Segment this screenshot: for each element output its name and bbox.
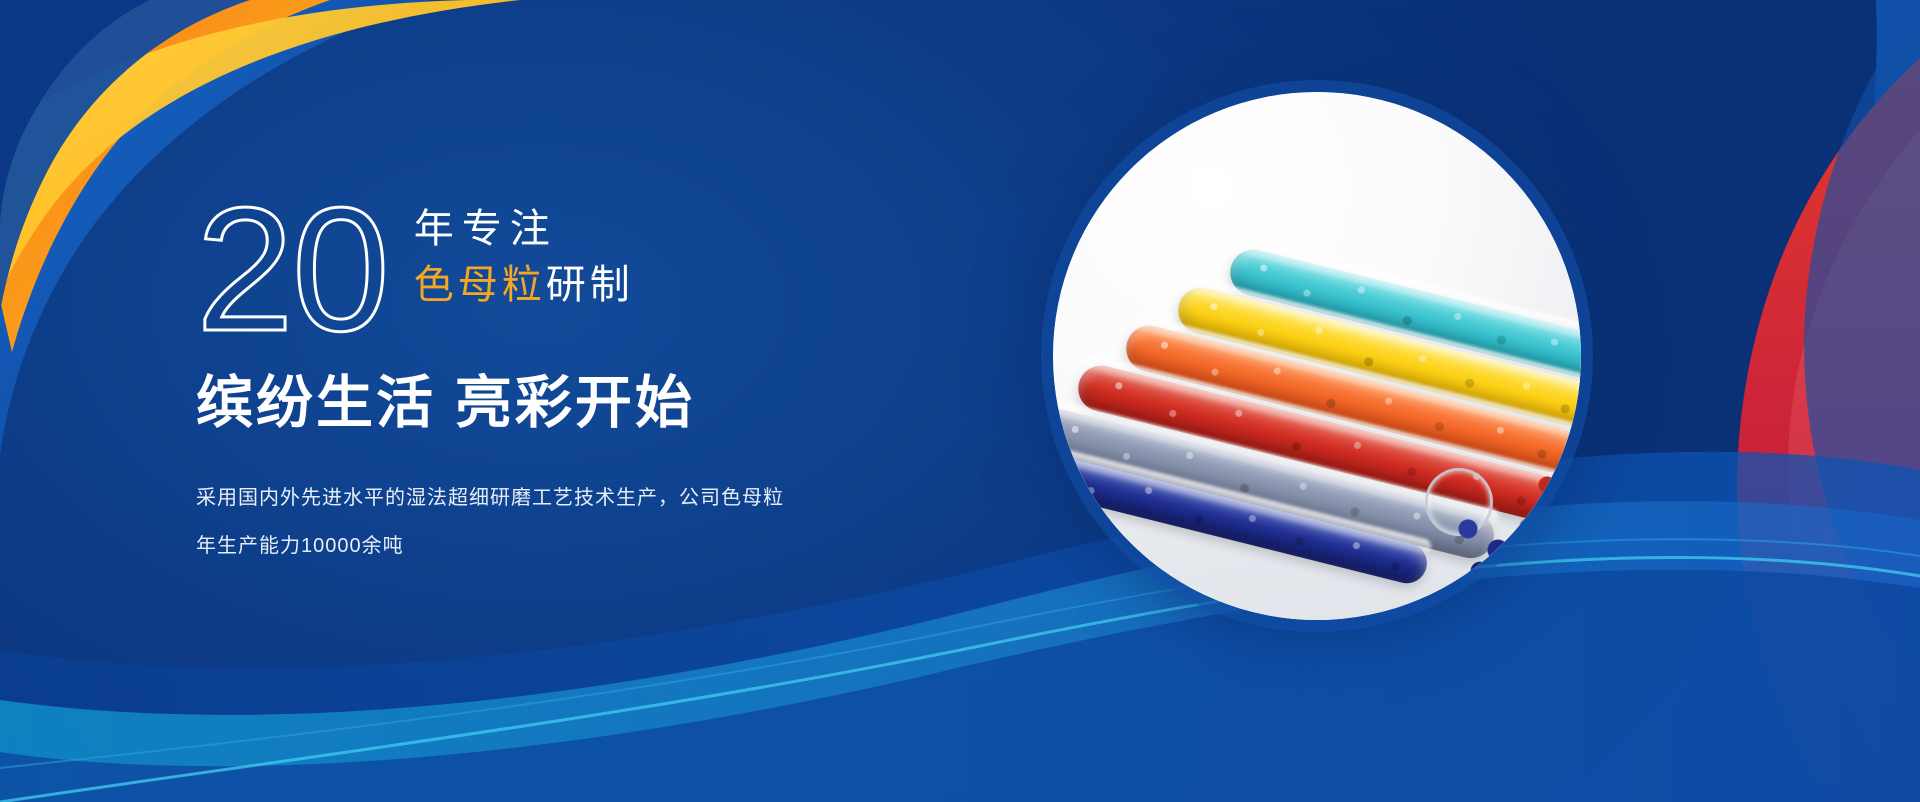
description-line-1: 采用国内外先进水平的湿法超细研磨工艺技术生产，公司色母粒: [196, 474, 956, 522]
product-suffix: 研制: [546, 263, 634, 307]
years-subtitle-stack: 年专注 色母粒研制: [414, 196, 634, 308]
product-photo-circle: [1053, 92, 1581, 620]
product-line: 色母粒研制: [414, 262, 634, 308]
description-line-2: 年生产能力10000余吨: [196, 522, 956, 570]
banner-description: 采用国内外先进水平的湿法超细研磨工艺技术生产，公司色母粒 年生产能力10000余…: [196, 474, 956, 570]
years-row: 20 年专注 色母粒研制: [196, 196, 956, 346]
years-number: 20: [196, 196, 388, 344]
hero-banner: 20 年专注 色母粒研制 缤纷生活 亮彩开始 采用国内外先进水平的湿法超细研磨工…: [0, 0, 1920, 802]
product-highlight: 色母粒: [414, 263, 546, 307]
product-photo: [1053, 92, 1581, 620]
banner-text-block: 20 年专注 色母粒研制 缤纷生活 亮彩开始 采用国内外先进水平的湿法超细研磨工…: [196, 196, 956, 570]
focus-line: 年专注: [414, 206, 634, 252]
banner-headline: 缤纷生活 亮彩开始: [196, 368, 956, 438]
